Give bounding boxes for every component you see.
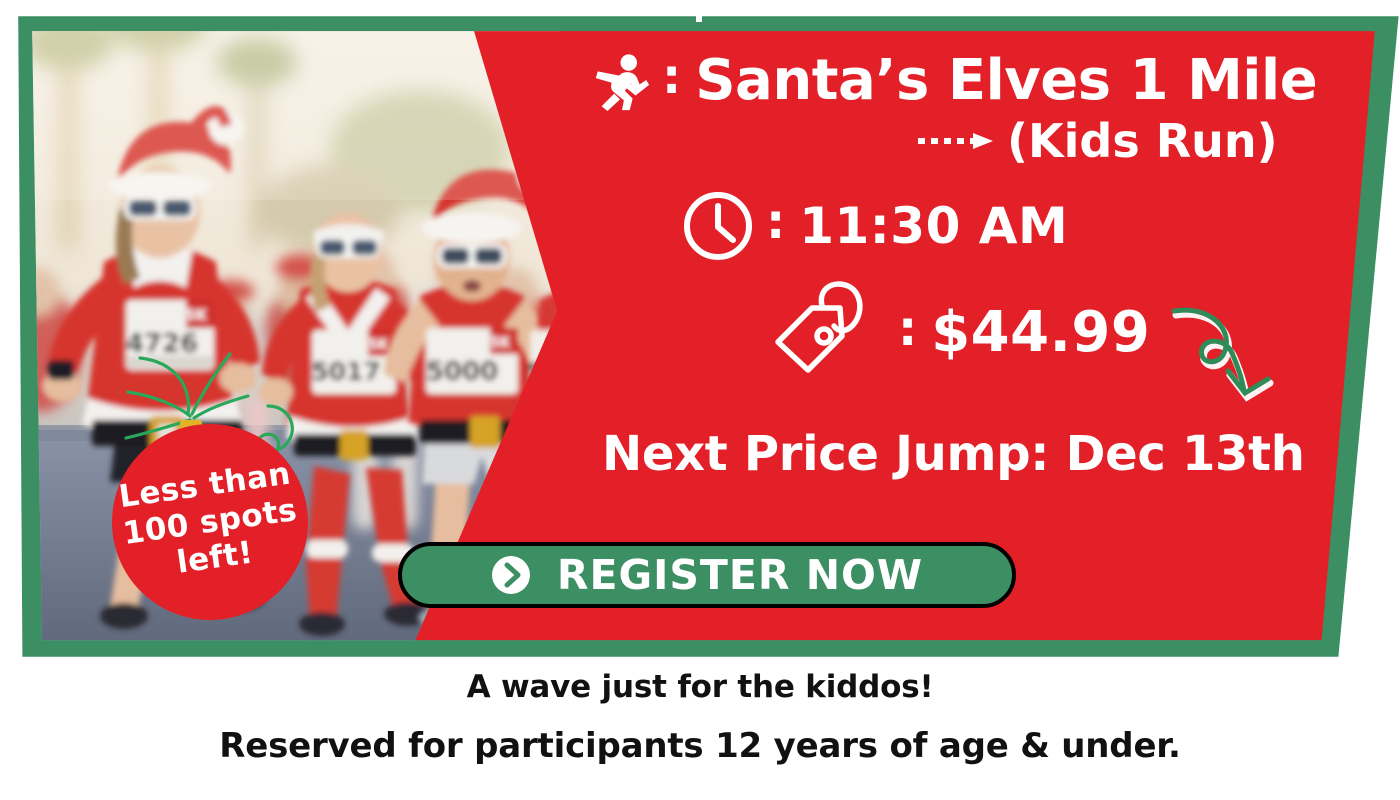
clock-icon xyxy=(680,188,756,264)
event-title-row: : Santa’s Elves 1 Mile xyxy=(590,50,1317,112)
spots-left-badge: Less than 100 spots left! xyxy=(112,424,308,620)
price-jump-text: Next Price Jump: Dec 13th xyxy=(602,430,1305,478)
time-separator: : xyxy=(766,198,785,246)
svg-text:5K: 5K xyxy=(490,335,512,351)
event-time-row: : 11:30 AM xyxy=(680,188,1068,264)
dashed-arrow-icon xyxy=(915,131,997,151)
running-person-icon xyxy=(590,50,652,112)
banner-stage: 5K 4726 xyxy=(0,0,1400,800)
top-notch-divider xyxy=(696,0,702,22)
event-price-row: : $44.99 xyxy=(760,278,1150,388)
event-subtitle-row: (Kids Run) xyxy=(915,118,1278,164)
event-title: Santa’s Elves 1 Mile xyxy=(695,53,1317,109)
register-now-button[interactable]: REGISTER NOW xyxy=(398,542,1016,608)
event-time: 11:30 AM xyxy=(799,201,1068,251)
caption-line-2: Reserved for participants 12 years of ag… xyxy=(0,729,1400,763)
caption-line-1: A wave just for the kiddos! xyxy=(0,672,1400,703)
svg-text:5K: 5K xyxy=(368,337,390,353)
svg-text:5K: 5K xyxy=(185,306,208,324)
curly-arrow-icon xyxy=(1170,295,1290,405)
register-now-label: REGISTER NOW xyxy=(557,555,923,596)
title-separator: : xyxy=(662,53,681,101)
price-tag-icon xyxy=(760,278,888,388)
event-subtitle: (Kids Run) xyxy=(1007,118,1278,164)
spots-left-text: Less than 100 spots left! xyxy=(114,455,306,588)
banner-caption: A wave just for the kiddos! Reserved for… xyxy=(0,672,1400,763)
price-separator: : xyxy=(898,305,917,353)
event-price: $44.99 xyxy=(931,305,1150,361)
chevron-right-circle-icon xyxy=(491,555,531,595)
price-jump-row: Next Price Jump: Dec 13th xyxy=(602,430,1305,478)
svg-text:5000: 5000 xyxy=(426,357,498,387)
